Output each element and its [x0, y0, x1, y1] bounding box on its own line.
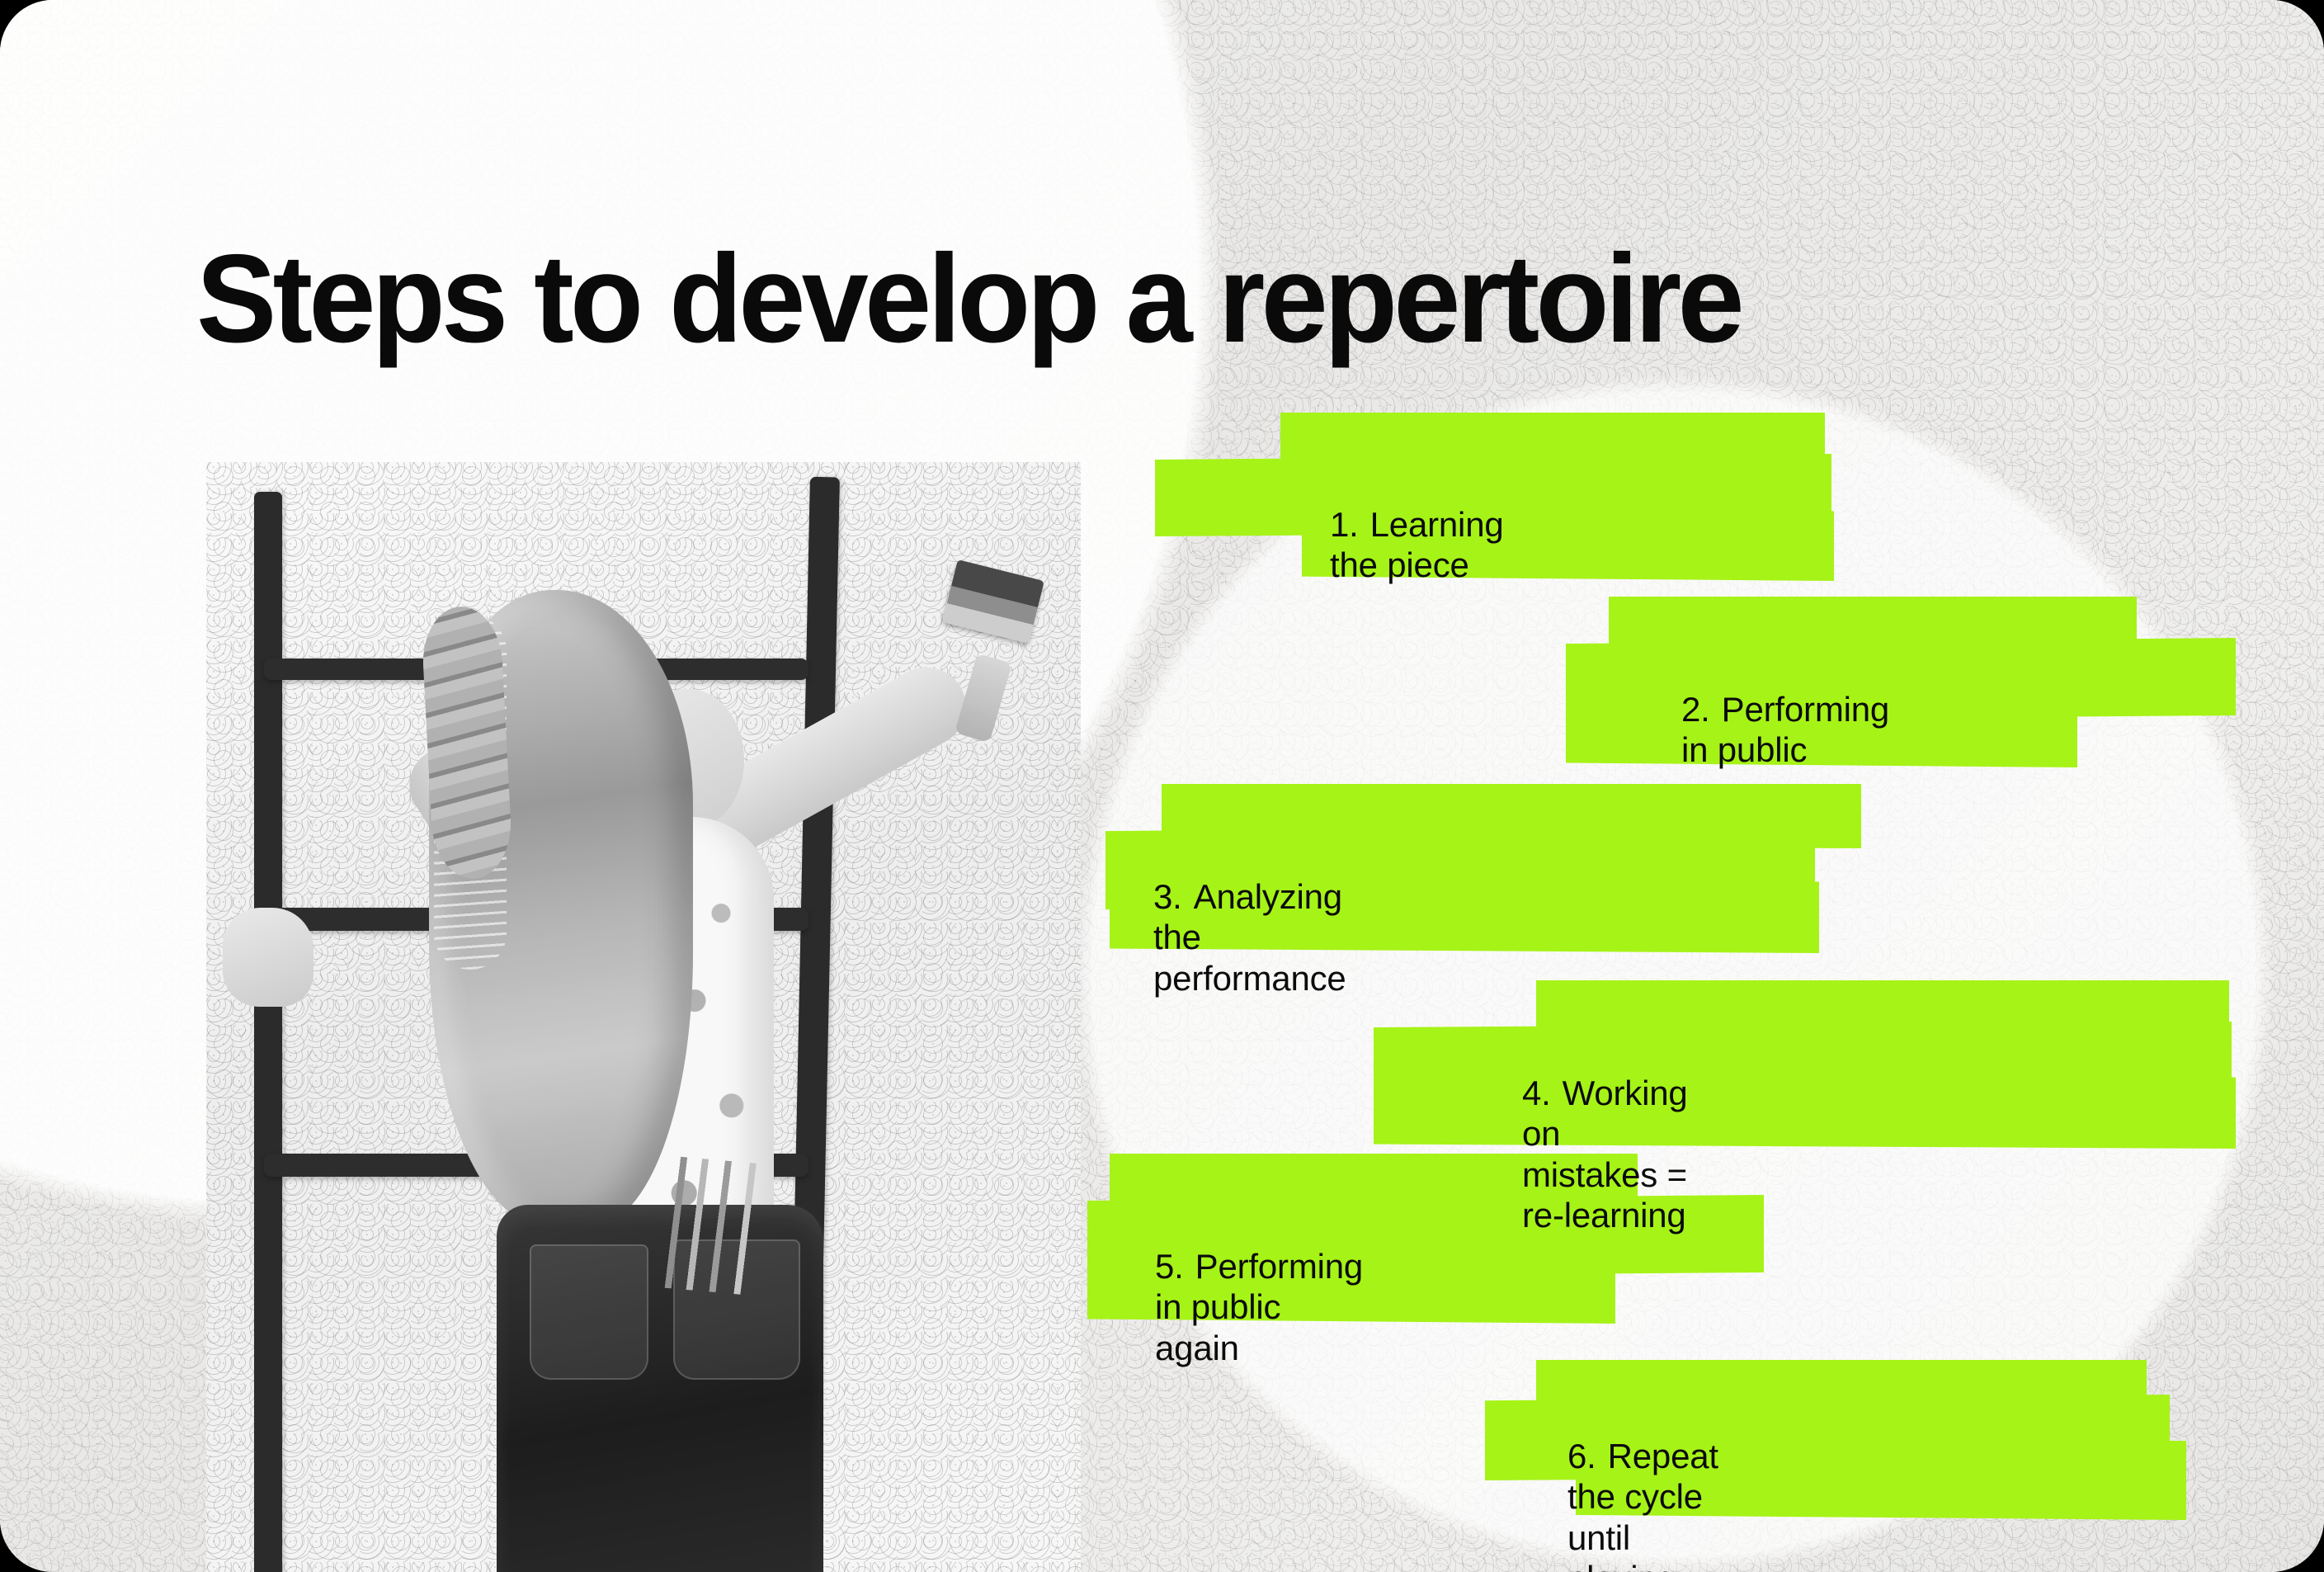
list-item-1-number: 1.	[1330, 505, 1359, 544]
list-item-1-text: 1.Learning the piece	[1330, 463, 1504, 586]
highlight-band-bottom	[1374, 1073, 2236, 1149]
list-item-5-text: 5.Performing in public again	[1155, 1205, 1363, 1368]
slide-canvas: Steps to develop a repertoire 1.Lear	[0, 0, 2324, 1572]
list-item-3-number: 3.	[1153, 877, 1182, 916]
list-item-2-number: 2.	[1681, 690, 1710, 729]
list-item-4-number: 4.	[1522, 1074, 1551, 1112]
list-item-5-label: Performing in public again	[1155, 1247, 1363, 1367]
list-item-6-number: 6.	[1567, 1437, 1596, 1475]
list-item-4-text: 4.Working on mistakes = re-learning	[1522, 1031, 1688, 1236]
list-item-3-label: Analyzing the performance	[1153, 877, 1346, 998]
list-item-2-label: Performing in public	[1681, 690, 1889, 770]
list-item-5-number: 5.	[1155, 1247, 1184, 1286]
steps-list: 1.Learning the piece 2.Performing in pub…	[0, 0, 2324, 1572]
list-item-6-text: 6.Repeat the cycle until playing becomes…	[1567, 1395, 1718, 1572]
list-item-2-text: 2.Performing in public	[1681, 648, 1889, 771]
list-item-3-text: 3.Analyzing the performance	[1153, 835, 1346, 998]
